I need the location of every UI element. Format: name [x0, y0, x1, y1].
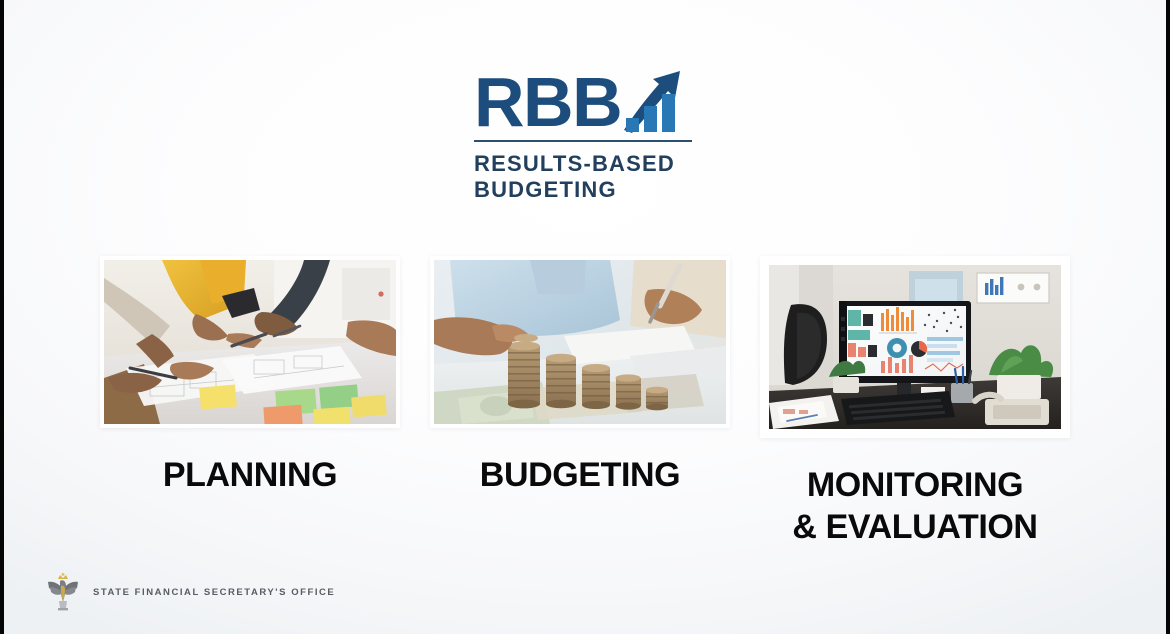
growth-arrow-bar-chart-icon	[623, 58, 685, 134]
process-card-monitoring-evaluation[interactable]: MONITORING & EVALUATION	[760, 256, 1070, 548]
card-label-planning: PLANNING	[163, 454, 337, 496]
eagle-crest-emblem-icon	[46, 572, 80, 612]
logo-tagline-line2: BUDGETING	[474, 177, 696, 203]
process-card-budgeting[interactable]: BUDGETING	[430, 256, 730, 496]
logo-tagline-line1: RESULTS-BASED	[474, 151, 696, 177]
process-cards-row: PLANNING	[0, 256, 1170, 548]
photo-frame-budgeting	[430, 256, 730, 428]
desk-monitor-dashboard-photo	[769, 265, 1061, 429]
slide-canvas: RBB RESULTS-BASED BUDGETING	[0, 0, 1170, 634]
team-planning-around-table-photo	[104, 260, 396, 424]
stacking-coins-budget-photo	[434, 260, 726, 424]
photo-frame-planning	[100, 256, 400, 428]
logo-wordmark: RBB	[474, 70, 621, 134]
card-label-monitoring-evaluation: MONITORING & EVALUATION	[792, 464, 1037, 548]
photo-frame-monitoring-evaluation	[760, 256, 1070, 438]
footer-branding: STATE FINANCIAL SECRETARY'S OFFICE	[46, 572, 335, 612]
process-card-planning[interactable]: PLANNING	[100, 256, 400, 496]
card-label-budgeting: BUDGETING	[480, 454, 680, 496]
right-edge-rail	[1166, 0, 1170, 634]
rbb-logo: RBB RESULTS-BASED BUDGETING	[0, 58, 1170, 204]
left-edge-rail	[0, 0, 4, 634]
footer-office-name: STATE FINANCIAL SECRETARY'S OFFICE	[93, 587, 335, 598]
